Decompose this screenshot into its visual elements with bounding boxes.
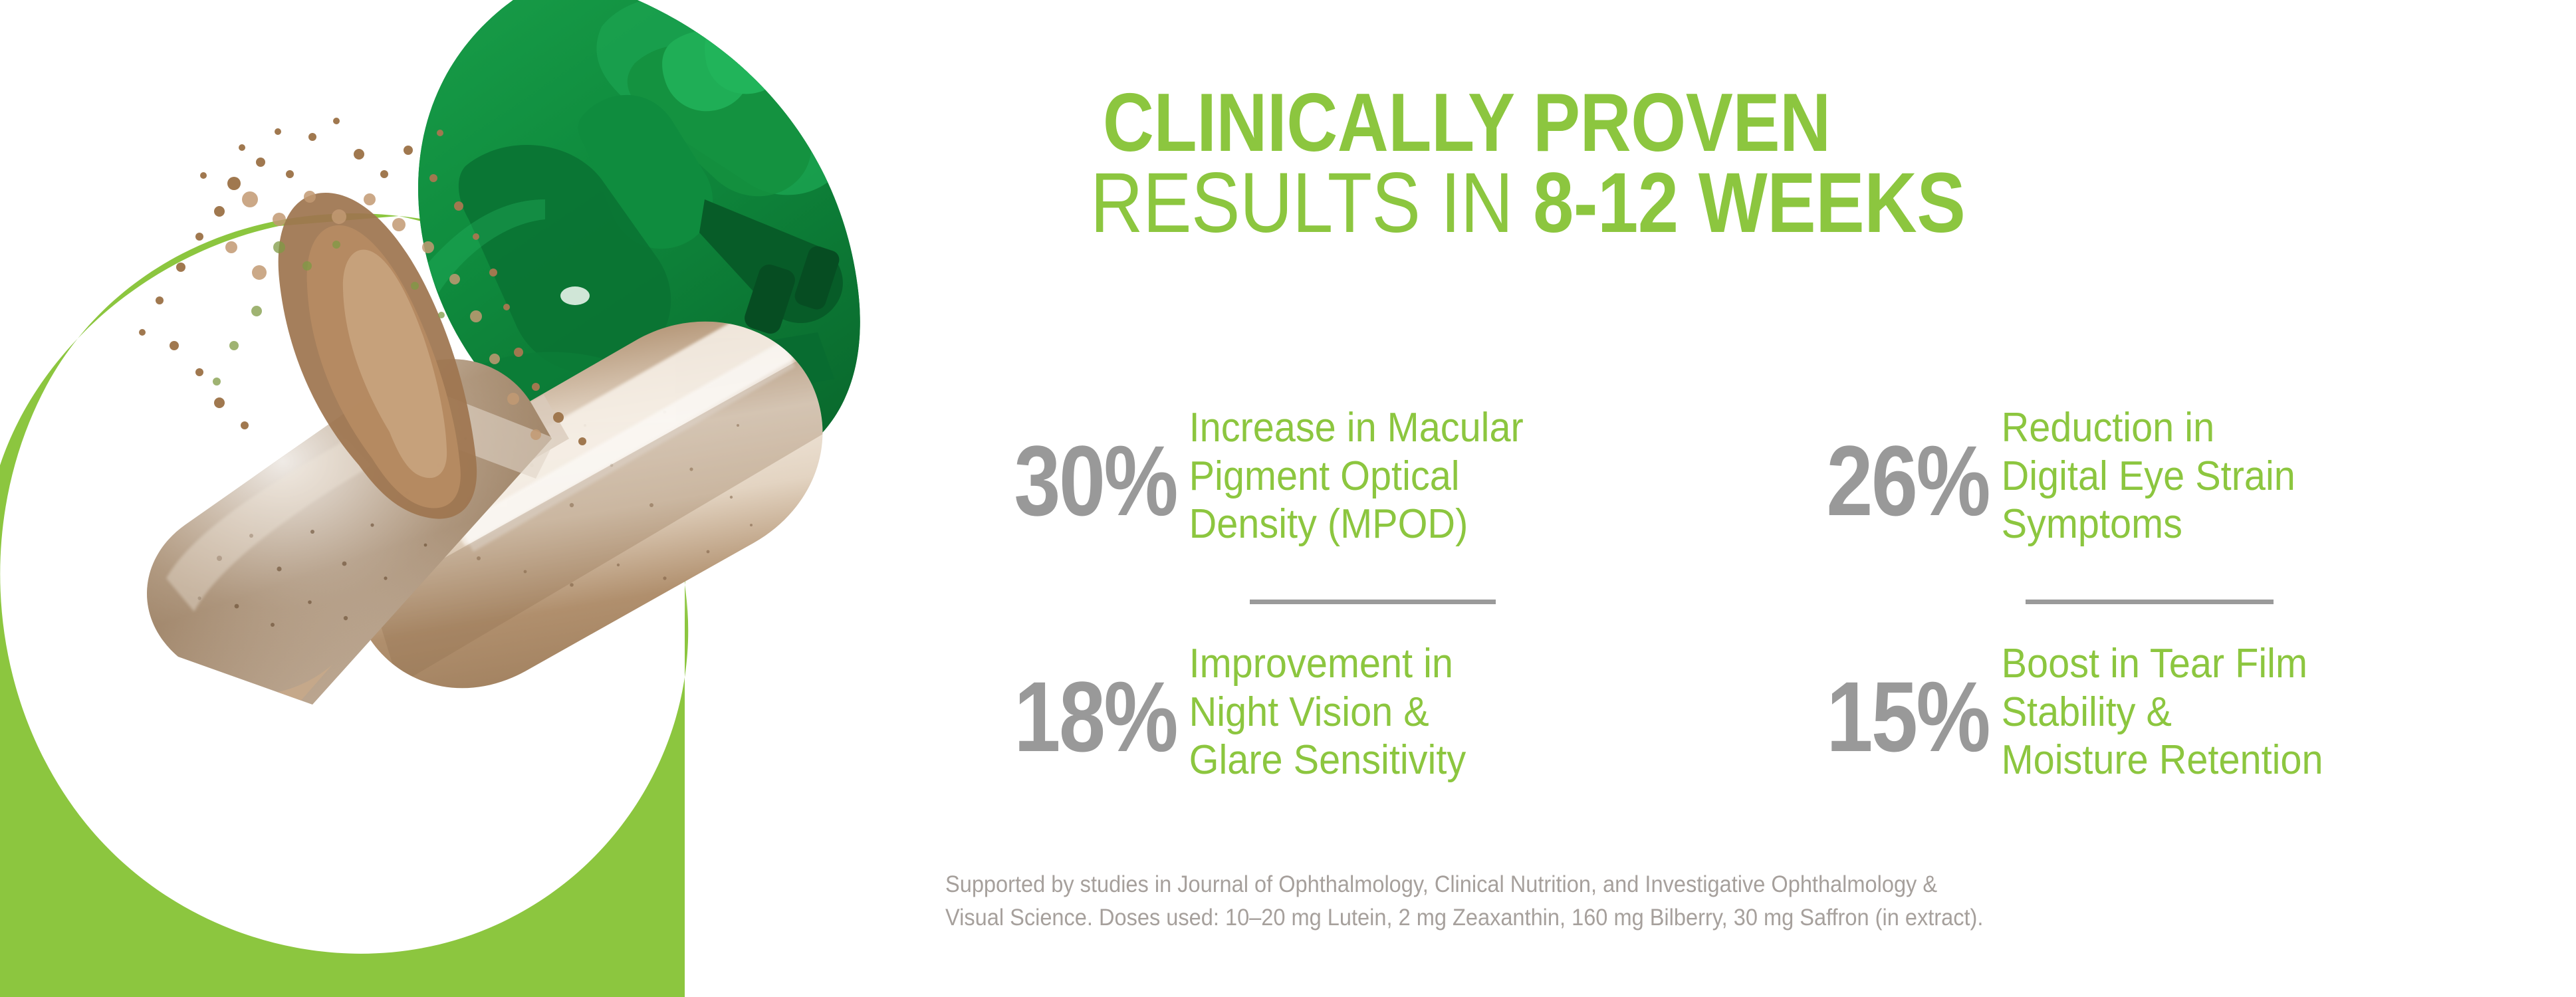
stats-grid: 30% Increase in Macular Pigment Optical … [917,399,2576,837]
stat-label-line: Stability & [2002,689,2535,737]
stat-divider-right [2026,600,2274,604]
headline-line-1: CLINICALLY PROVEN [1090,86,2368,161]
stat-item-night-vision: 18% Improvement in Night Vision & Glare … [924,635,1708,785]
stat-label: Improvement in Night Vision & Glare Sens… [1177,635,1671,785]
stat-item-digital-eye-strain: 26% Reduction in Digital Eye Strain Symp… [1735,399,2576,549]
stat-value: 26% [1776,399,1989,530]
stat-label: Increase in Macular Pigment Optical Dens… [1177,399,1671,549]
stat-value: 18% [965,635,1177,766]
stat-label: Reduction in Digital Eye Strain Symptoms [1989,399,2535,549]
footnote-line-2: Visual Science. Doses used: 10–20 mg Lut… [945,901,2399,935]
stat-label-line: Glare Sensitivity [1189,736,1671,785]
stat-label-line: Moisture Retention [2002,736,2535,785]
stat-divider-left [1250,600,1496,604]
stat-label-line: Improvement in [1189,640,1671,689]
artwork-svg [0,0,984,997]
headline-line-2-bold: 8-12 WEEKS [1533,156,1965,251]
product-artwork [0,0,984,997]
footnote: Supported by studies in Journal of Ophth… [945,868,2399,934]
stat-label-line: Digital Eye Strain [2002,453,2535,501]
headline: CLINICALLY PROVEN RESULTS IN 8-12 WEEKS [1090,86,2576,241]
stat-label-line: Boost in Tear Film [2002,640,2535,689]
stat-label-line: Reduction in [2002,404,2535,453]
stat-label-line: Symptoms [2002,500,2535,549]
headline-line-2-light: RESULTS IN [1090,156,1533,251]
stat-label: Boost in Tear Film Stability & Moisture … [1989,635,2535,785]
stat-label-line: Pigment Optical [1189,453,1671,501]
stat-label-line: Increase in Macular [1189,404,1671,453]
stat-value: 15% [1776,635,1989,766]
stat-item-mpod: 30% Increase in Macular Pigment Optical … [924,399,1708,549]
footnote-line-1: Supported by studies in Journal of Ophth… [945,868,2399,901]
stat-value: 30% [965,399,1177,530]
content-panel: CLINICALLY PROVEN RESULTS IN 8-12 WEEKS … [917,0,2576,997]
stat-label-line: Density (MPOD) [1189,500,1671,549]
stat-label-line: Night Vision & [1189,689,1671,737]
headline-line-2: RESULTS IN 8-12 WEEKS [1090,165,2368,241]
stat-item-tear-film: 15% Boost in Tear Film Stability & Moist… [1735,635,2576,785]
